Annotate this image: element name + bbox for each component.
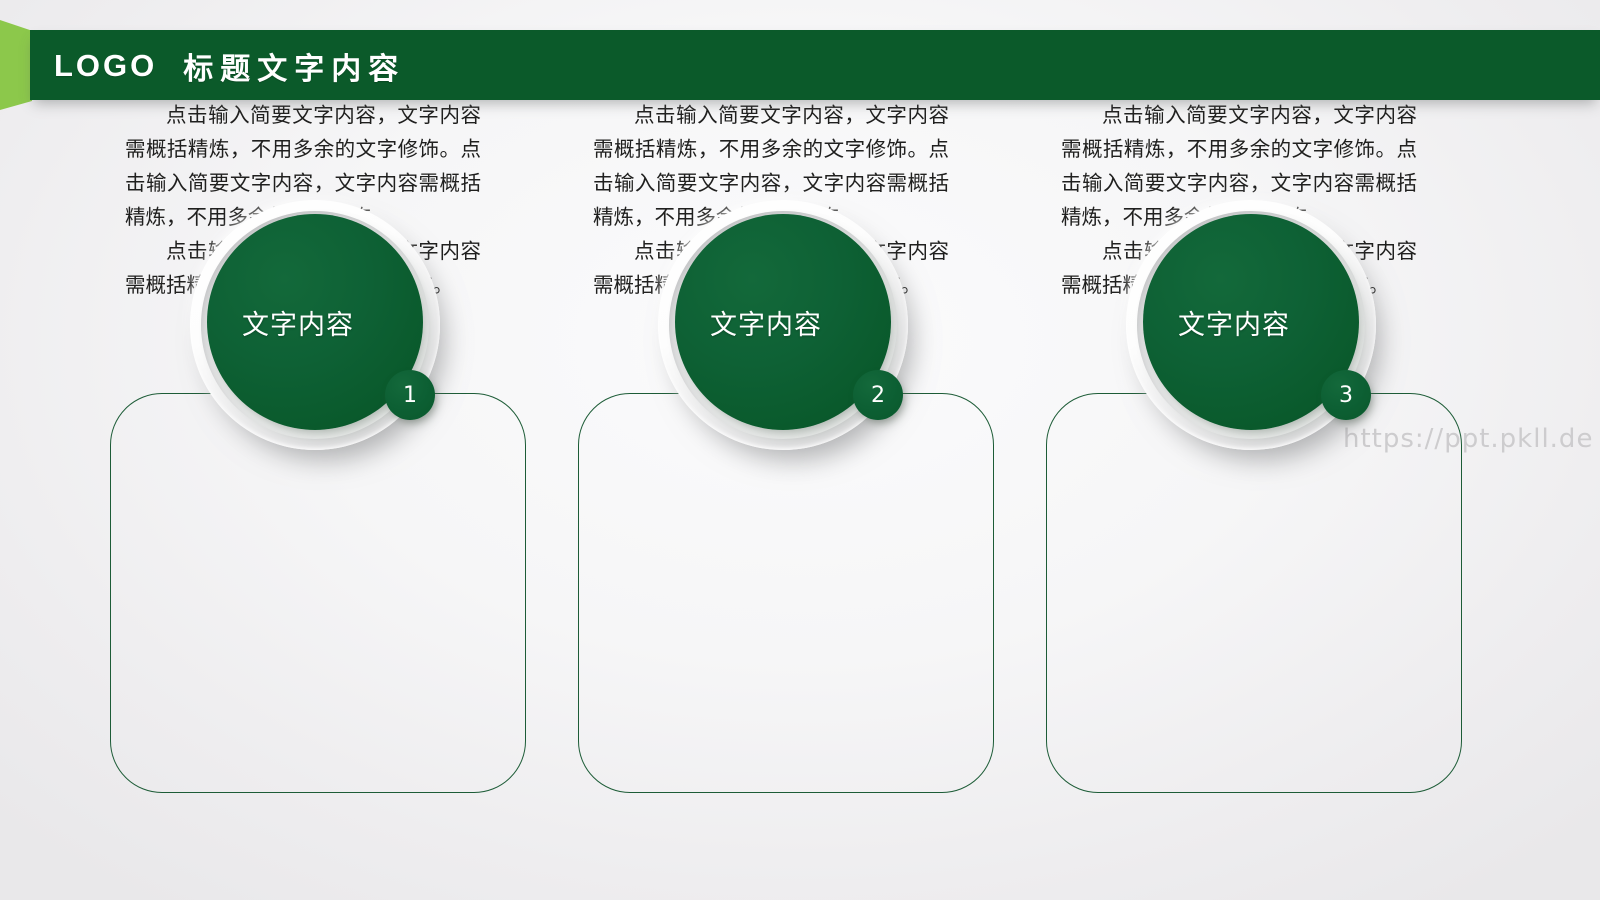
number-badge-label: 3 [1339,383,1353,408]
number-badge: 2 [853,370,903,420]
content-column-1: 点击输入简要文字内容，文字内容需概括精炼，不用多余的文字修饰。点击输入简要文字内… [95,0,565,900]
text-card-3 [1046,393,1462,793]
number-badge-label: 2 [871,383,885,408]
circle-badge-1[interactable]: 文字内容 1 [190,200,440,450]
content-column-3: 点击输入简要文字内容，文字内容需概括精炼，不用多余的文字修饰。点击输入简要文字内… [1031,0,1501,900]
circle-label: 文字内容 [710,303,822,342]
text-card-2 [578,393,994,793]
circle-badge-3[interactable]: 文字内容 3 [1126,200,1376,450]
circle-label: 文字内容 [242,303,354,342]
number-badge: 3 [1321,370,1371,420]
number-badge-label: 1 [403,383,417,408]
content-column-2: 点击输入简要文字内容，文字内容需概括精炼，不用多余的文字修饰。点击输入简要文字内… [563,0,1033,900]
page-title: 标题文字内容 [183,44,405,88]
text-card-1 [110,393,526,793]
logo-text: LOGO [54,48,157,84]
slide-canvas: LOGO 标题文字内容 点击输入简要文字内容，文字内容需概括精炼，不用多余的文字… [0,0,1600,900]
circle-label: 文字内容 [1178,303,1290,342]
header-title-group: LOGO 标题文字内容 [54,31,405,101]
header-accent-shape [0,20,32,110]
circle-badge-2[interactable]: 文字内容 2 [658,200,908,450]
number-badge: 1 [385,370,435,420]
